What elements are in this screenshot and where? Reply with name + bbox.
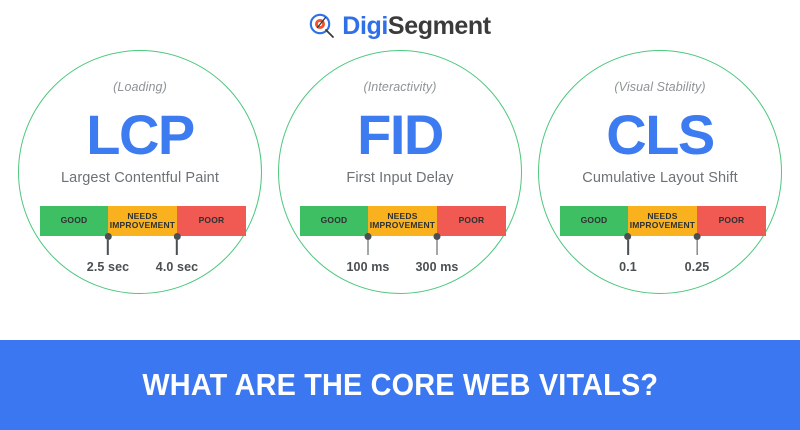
- vital-category-label: (Interactivity): [363, 81, 436, 94]
- tick-good-threshold: 0.1: [619, 236, 637, 274]
- tick-stem: [107, 240, 108, 255]
- bottom-banner: WHAT ARE THE CORE WEB VITALS?: [0, 340, 800, 430]
- vital-fullname: First Input Delay: [346, 171, 453, 186]
- brand-header: DigiSegment: [0, 0, 800, 46]
- segment-poor: POOR: [177, 206, 246, 236]
- tick-stem: [367, 240, 368, 255]
- tick-dot-icon: [364, 233, 371, 240]
- vital-acronym: LCP: [86, 106, 194, 165]
- tick-poor-threshold: 0.25: [685, 236, 710, 274]
- tick-poor-threshold: 4.0 sec: [156, 236, 198, 274]
- tick-dot-icon: [624, 233, 631, 240]
- tick-label: 0.25: [685, 260, 710, 274]
- tick-stem: [627, 240, 628, 255]
- threshold-bar: GOOD NEEDS IMPROVEMENT POOR: [40, 206, 246, 236]
- tick-stem: [436, 240, 437, 255]
- brand-name-digi: Digi: [342, 12, 388, 40]
- tick-good-threshold: 100 ms: [346, 236, 389, 274]
- tick-good-threshold: 2.5 sec: [87, 236, 129, 274]
- threshold-bar: GOOD NEEDS IMPROVEMENT POOR: [560, 206, 766, 236]
- tick-dot-icon: [104, 233, 111, 240]
- tick-dot-icon: [693, 233, 700, 240]
- segment-good: GOOD: [560, 206, 628, 236]
- vital-card-lcp: (Loading) LCP Largest Contentful Paint G…: [18, 50, 262, 294]
- vital-acronym: FID: [357, 106, 443, 165]
- threshold-ticks: 2.5 sec 4.0 sec: [40, 236, 246, 284]
- vital-category-label: (Visual Stability): [614, 81, 705, 94]
- vital-card-fid: (Interactivity) FID First Input Delay GO…: [278, 50, 522, 294]
- tick-label: 100 ms: [346, 260, 389, 274]
- vital-category-label: (Loading): [113, 81, 167, 94]
- threshold-ticks: 100 ms 300 ms: [300, 236, 506, 284]
- tick-poor-threshold: 300 ms: [415, 236, 458, 274]
- threshold-ticks: 0.1 0.25: [560, 236, 766, 284]
- tick-dot-icon: [433, 233, 440, 240]
- segment-poor: POOR: [697, 206, 766, 236]
- tick-stem: [176, 240, 177, 255]
- segment-good: GOOD: [300, 206, 368, 236]
- vital-fullname: Cumulative Layout Shift: [582, 171, 737, 186]
- banner-title: WHAT ARE THE CORE WEB VITALS?: [142, 367, 658, 403]
- threshold-bar-lcp: GOOD NEEDS IMPROVEMENT POOR 2.5 sec 4.0 …: [40, 206, 246, 284]
- segment-good: GOOD: [40, 206, 108, 236]
- tick-label: 300 ms: [415, 260, 458, 274]
- target-magnifier-icon: [309, 13, 335, 39]
- core-web-vitals-group: (Loading) LCP Largest Contentful Paint G…: [0, 46, 800, 336]
- vital-card-cls: (Visual Stability) CLS Cumulative Layout…: [538, 50, 782, 294]
- brand-name-segment: Segment: [388, 12, 491, 40]
- vital-fullname: Largest Contentful Paint: [61, 171, 219, 186]
- threshold-bar-cls: GOOD NEEDS IMPROVEMENT POOR 0.1 0.25: [560, 206, 766, 284]
- tick-label: 0.1: [619, 260, 637, 274]
- threshold-bar-fid: GOOD NEEDS IMPROVEMENT POOR 100 ms 300 m…: [300, 206, 506, 284]
- vital-acronym: CLS: [606, 106, 714, 165]
- tick-label: 4.0 sec: [156, 260, 198, 274]
- tick-label: 2.5 sec: [87, 260, 129, 274]
- brand-name: DigiSegment: [342, 14, 490, 39]
- segment-needs-improvement: NEEDS IMPROVEMENT: [368, 206, 437, 236]
- tick-stem: [696, 240, 697, 255]
- tick-dot-icon: [173, 233, 180, 240]
- segment-needs-improvement: NEEDS IMPROVEMENT: [628, 206, 697, 236]
- segment-poor: POOR: [437, 206, 506, 236]
- segment-needs-improvement: NEEDS IMPROVEMENT: [108, 206, 177, 236]
- threshold-bar: GOOD NEEDS IMPROVEMENT POOR: [300, 206, 506, 236]
